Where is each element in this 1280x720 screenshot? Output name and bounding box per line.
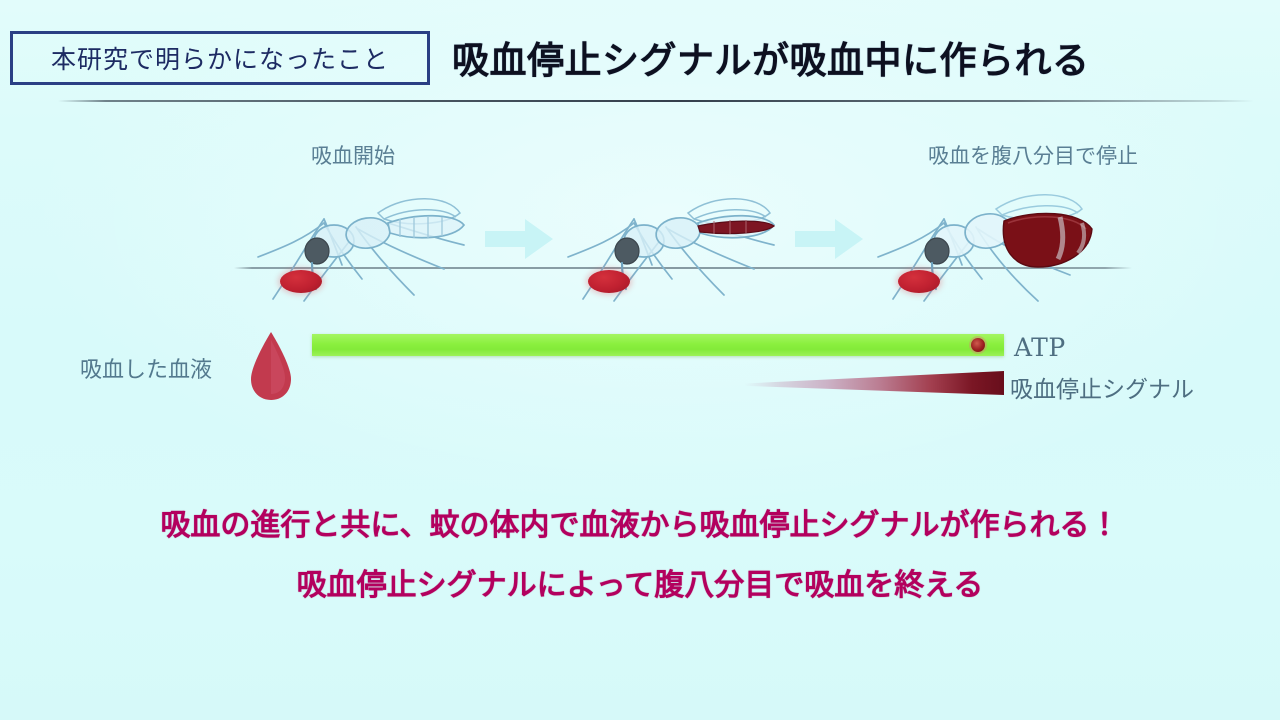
atp-endpoint-marker <box>971 338 985 352</box>
slide-header: 本研究で明らかになったこと 吸血停止シグナルが吸血中に作られる <box>0 0 1280 104</box>
header-divider <box>58 100 1254 102</box>
blood-pool-stage-2 <box>588 270 630 293</box>
mosquito-icon-stage-3 <box>858 183 1108 303</box>
topic-label: 本研究で明らかになったこと <box>51 40 389 76</box>
stop-signal-legend-label: 吸血停止シグナル <box>1010 370 1194 404</box>
ingested-blood-label: 吸血した血液 <box>80 352 212 384</box>
atp-level-bar <box>312 334 1004 356</box>
blood-pool-stage-1 <box>280 270 322 293</box>
arrow-right-icon-1 <box>485 216 553 262</box>
blood-pool-stage-3 <box>898 270 940 293</box>
atp-legend-label: ATP <box>1014 333 1066 362</box>
conclusion-line-1: 吸血の進行と共に、蚊の体内で血液から吸血停止シグナルが作られる！ <box>0 500 1280 544</box>
blood-drop-icon <box>248 330 294 402</box>
stop-signal-gradient-bar <box>744 371 1004 395</box>
page-title: 吸血停止シグナルが吸血中に作られる <box>452 30 1090 84</box>
slide-canvas: 本研究で明らかになったこと 吸血停止シグナルが吸血中に作られる 吸血開始 吸血を… <box>0 0 1280 720</box>
topic-box: 本研究で明らかになったこと <box>10 31 430 85</box>
mosquito-icon-stage-1 <box>238 183 488 303</box>
conclusion-line-2: 吸血停止シグナルによって腹八分目で吸血を終える <box>0 560 1280 604</box>
caption-feeding-start: 吸血開始 <box>311 140 395 170</box>
arrow-right-icon-2 <box>795 216 863 262</box>
caption-feeding-stop: 吸血を腹八分目で停止 <box>928 140 1138 170</box>
mosquito-icon-stage-2 <box>548 183 798 303</box>
